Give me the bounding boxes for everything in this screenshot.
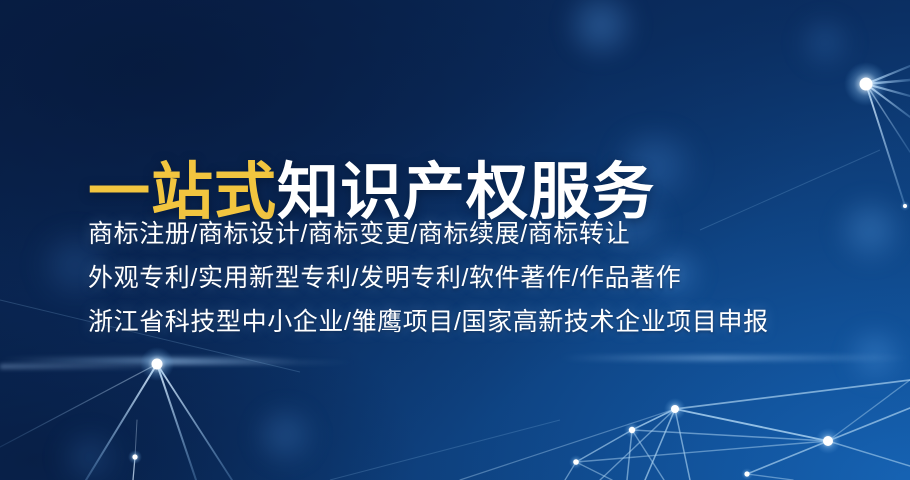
service-line-trademark: 商标注册/商标设计/商标变更/商标续展/商标转让 (88, 222, 769, 247)
service-line-projects: 浙江省科技型中小企业/雏鹰项目/国家高新技术企业项目申报 (88, 310, 769, 335)
headline-highlight: 一站式 (88, 158, 277, 227)
service-line-patent: 外观专利/实用新型专利/发明专利/软件著作/作品著作 (88, 266, 769, 291)
banner-content: 一站式知识产权服务 商标注册/商标设计/商标变更/商标续展/商标转让 外观专利/… (88, 0, 848, 480)
headline-rest: 知识产权服务 (277, 158, 655, 227)
service-list: 商标注册/商标设计/商标变更/商标续展/商标转让 外观专利/实用新型专利/发明专… (88, 222, 769, 335)
ip-service-banner: 一站式知识产权服务 商标注册/商标设计/商标变更/商标续展/商标转让 外观专利/… (0, 0, 910, 480)
page-title: 一站式知识产权服务 (88, 160, 655, 225)
